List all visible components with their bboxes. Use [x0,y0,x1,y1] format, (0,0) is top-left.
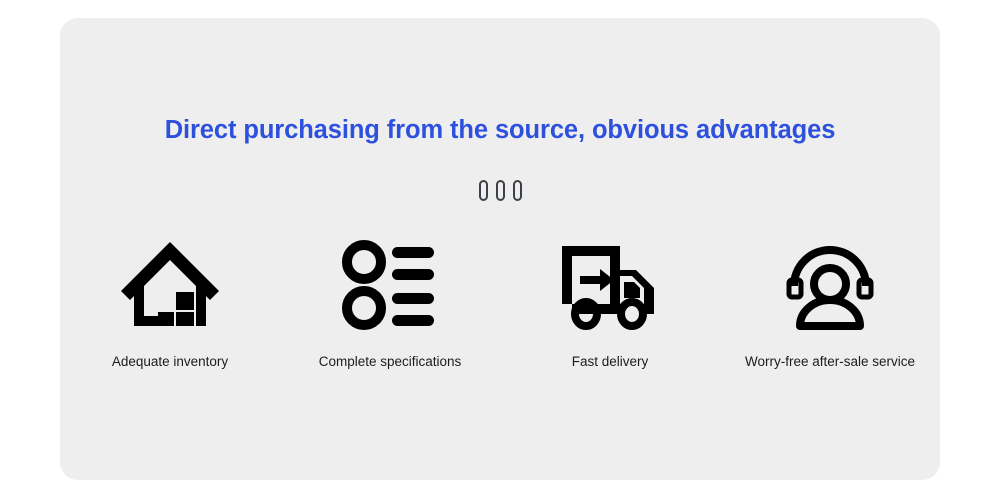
feature-list: Adequate inventory Complete specificatio… [60,236,940,369]
feature-item-inventory: Adequate inventory [60,236,280,369]
warehouse-icon [118,236,222,332]
pill-icon [479,180,488,201]
specification-list-icon [340,236,440,332]
divider [60,180,940,201]
banner-stage: Direct purchasing from the source, obvio… [0,0,1000,499]
feature-item-service: Worry-free after-sale service [720,236,940,369]
feature-label: Complete specifications [319,354,462,369]
feature-label: Worry-free after-sale service [745,354,915,369]
feature-item-delivery: Fast delivery [500,236,720,369]
page-title: Direct purchasing from the source, obvio… [60,116,940,145]
feature-card: Direct purchasing from the source, obvio… [60,18,940,480]
pill-icon [496,180,505,201]
feature-label: Fast delivery [572,354,649,369]
customer-service-headset-icon [780,236,880,332]
delivery-truck-icon [558,236,662,332]
feature-label: Adequate inventory [112,354,228,369]
feature-item-specifications: Complete specifications [280,236,500,369]
pill-icon [513,180,522,201]
